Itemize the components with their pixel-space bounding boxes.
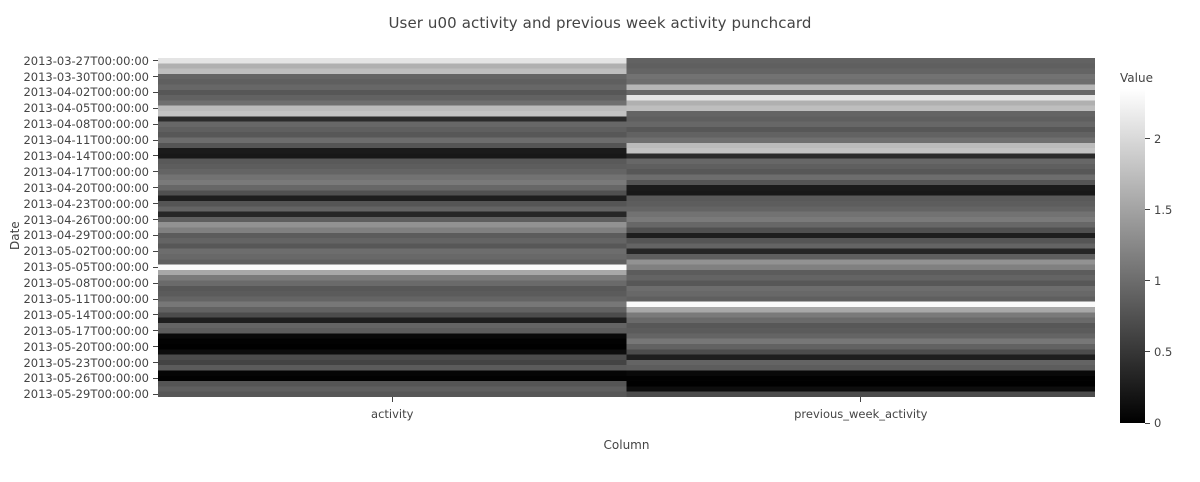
heatmap-cells[interactable] — [158, 58, 1095, 397]
colorbar-tick-label: 1 — [1154, 273, 1161, 289]
y-axis-tick-label: 2013-03-27T00:00:00 — [23, 53, 149, 69]
y-axis-tick-label: 2013-04-14T00:00:00 — [23, 148, 149, 164]
y-axis-tick-mark — [153, 219, 158, 220]
y-axis-tick-mark — [153, 187, 158, 188]
y-axis-tick-mark — [153, 171, 158, 172]
y-axis-tick-mark — [153, 267, 158, 268]
y-axis-tick-label: 2013-05-29T00:00:00 — [23, 386, 149, 402]
y-axis-tick-mark — [153, 108, 158, 109]
y-axis-tick-mark — [153, 76, 158, 77]
y-axis-tick-mark — [153, 60, 158, 61]
y-axis-tick-mark — [153, 346, 158, 347]
y-axis-tick-label: 2013-05-14T00:00:00 — [23, 307, 149, 323]
colorbar-tick-label: 1.5 — [1154, 202, 1172, 218]
y-axis-tick-label: 2013-04-02T00:00:00 — [23, 84, 149, 100]
y-axis-tick-mark — [153, 235, 158, 236]
y-axis-tick-mark — [153, 394, 158, 395]
y-axis-tick-label: 2013-05-20T00:00:00 — [23, 339, 149, 355]
y-axis-tick-mark — [153, 140, 158, 141]
y-axis-tick-label: 2013-05-02T00:00:00 — [23, 243, 149, 259]
y-axis-tick-label: 2013-04-05T00:00:00 — [23, 100, 149, 116]
y-axis-tick-mark — [153, 378, 158, 379]
y-axis-tick-label: 2013-04-17T00:00:00 — [23, 164, 149, 180]
colorbar-tick-label: 0 — [1154, 415, 1161, 431]
x-axis-tick-mark — [392, 397, 393, 402]
heatmap-chart: User u00 activity and previous week acti… — [0, 0, 1200, 482]
y-axis-tick-mark — [153, 330, 158, 331]
y-axis-tick-label: 2013-05-23T00:00:00 — [23, 355, 149, 371]
y-axis-tick-label: 2013-05-05T00:00:00 — [23, 259, 149, 275]
colorbar-tick-mark — [1145, 423, 1150, 424]
y-axis-tick-mark — [153, 314, 158, 315]
y-axis-tick-mark — [153, 155, 158, 156]
colorbar-gradient — [1120, 89, 1145, 423]
colorbar-title: Value — [1120, 71, 1153, 85]
y-axis-tick-mark — [153, 92, 158, 93]
y-axis-tick-label: 2013-04-20T00:00:00 — [23, 180, 149, 196]
colorbar-tick-mark — [1145, 209, 1150, 210]
y-axis-tick-mark — [153, 124, 158, 125]
y-axis-tick-label: 2013-05-26T00:00:00 — [23, 370, 149, 386]
x-axis-tick-mark — [860, 397, 861, 402]
colorbar-tick-mark — [1145, 280, 1150, 281]
y-axis-tick-label: 2013-04-23T00:00:00 — [23, 196, 149, 212]
y-axis-tick-label: 2013-04-26T00:00:00 — [23, 212, 149, 228]
y-axis: Date 2013-03-27T00:00:002013-03-30T00:00… — [0, 58, 158, 397]
colorbar-tick-label: 0.5 — [1154, 344, 1172, 360]
x-axis-tick-label: previous_week_activity — [794, 407, 927, 421]
colorbar-tick-mark — [1145, 138, 1150, 139]
y-axis-tick-mark — [153, 362, 158, 363]
y-axis-tick-label: 2013-04-29T00:00:00 — [23, 227, 149, 243]
y-axis-title: Date — [8, 221, 22, 250]
y-axis-tick-label: 2013-04-11T00:00:00 — [23, 132, 149, 148]
heatmap-plot-area[interactable] — [158, 58, 1095, 397]
y-axis-tick-mark — [153, 251, 158, 252]
colorbar-tick-mark — [1145, 351, 1150, 352]
colorbar-tick-label: 2 — [1154, 131, 1161, 147]
y-axis-tick-label: 2013-05-08T00:00:00 — [23, 275, 149, 291]
colorbar[interactable]: Value 21.510.50 — [1120, 58, 1200, 403]
x-axis-tick-label: activity — [371, 407, 413, 421]
y-axis-tick-mark — [153, 283, 158, 284]
x-axis-title: Column — [158, 438, 1095, 452]
y-axis-tick-label: 2013-05-17T00:00:00 — [23, 323, 149, 339]
y-axis-tick-label: 2013-04-08T00:00:00 — [23, 116, 149, 132]
chart-title: User u00 activity and previous week acti… — [0, 14, 1200, 32]
y-axis-tick-label: 2013-05-11T00:00:00 — [23, 291, 149, 307]
y-axis-tick-mark — [153, 203, 158, 204]
y-axis-tick-mark — [153, 299, 158, 300]
y-axis-tick-label: 2013-03-30T00:00:00 — [23, 69, 149, 85]
